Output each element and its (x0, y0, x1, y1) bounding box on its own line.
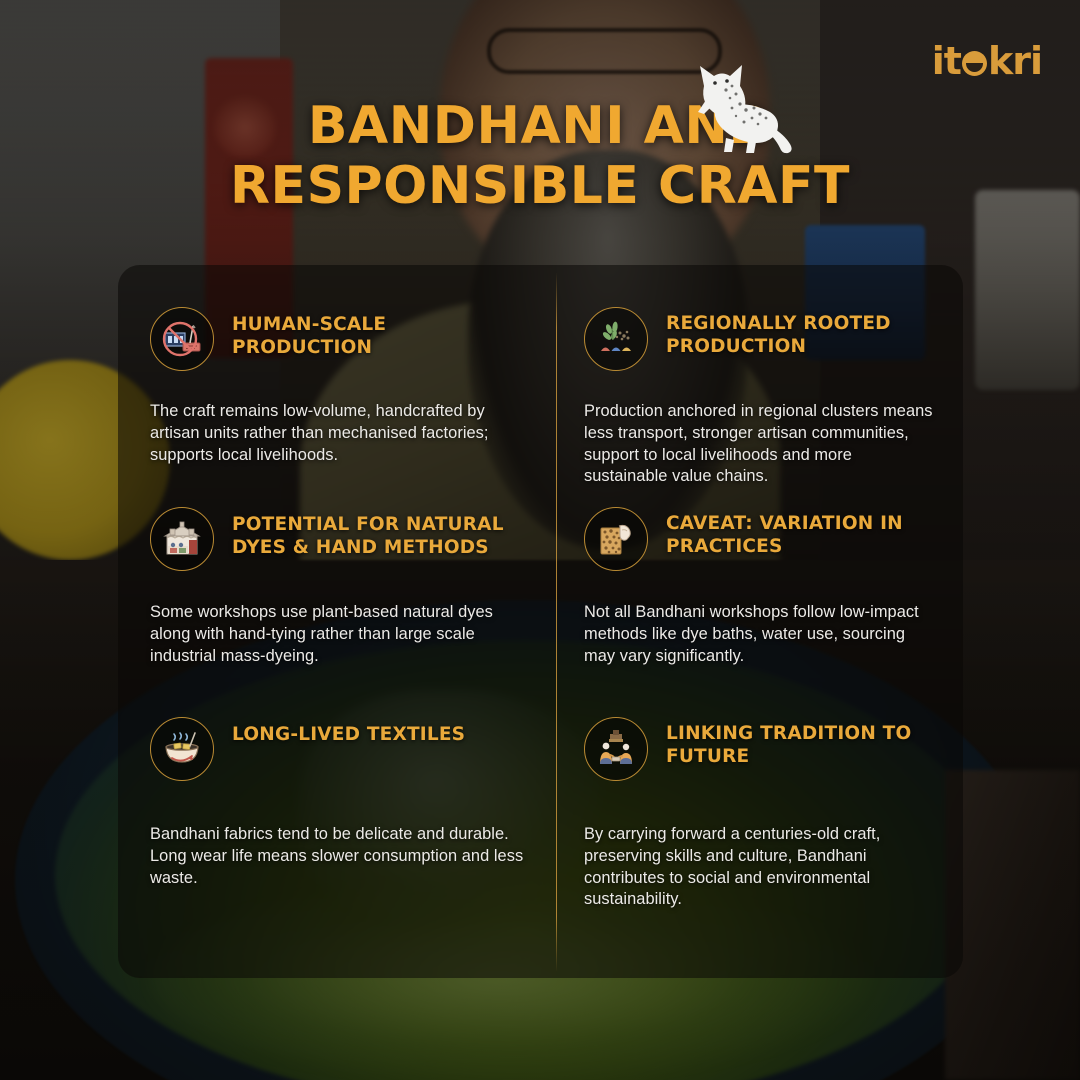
itokri-logo[interactable]: itkri (932, 42, 1042, 80)
feature-card-regionally-rooted-production[interactable]: REGIONALLY ROOTED PRODUCTION Production … (556, 265, 963, 465)
card-body: By carrying forward a centuries-old craf… (584, 824, 935, 911)
card-body: Not all Bandhani workshops follow low-im… (584, 602, 935, 667)
card-header: HUMAN-SCALE PRODUCTION (150, 305, 528, 371)
card-header: LONG-LIVED TEXTILES (150, 715, 528, 781)
card-header: POTENTIAL FOR NATURAL DYES & HAND METHOD… (150, 505, 528, 571)
card-title: REGIONALLY ROOTED PRODUCTION (666, 305, 935, 359)
card-title: LONG-LIVED TEXTILES (232, 715, 465, 746)
two-artisans-icon (584, 717, 648, 781)
no-factory-icon (150, 307, 214, 371)
steaming-dye-pot-icon (150, 717, 214, 781)
workshop-building-icon (150, 507, 214, 571)
feature-card-caveat-variation-in-practices[interactable]: CAVEAT: VARIATION IN PRACTICES Not all B… (556, 465, 963, 675)
features-grid: HUMAN-SCALE PRODUCTION The craft remains… (118, 265, 963, 978)
logo-basket-icon (962, 51, 987, 76)
hand-holding-fabric-swatch-icon (584, 507, 648, 571)
infographic-poster: itkri BANDHANI AND RESPONSIBLE CRAFT (0, 0, 1080, 1080)
page-title: BANDHANI AND RESPONSIBLE CRAFT (0, 96, 1080, 217)
title-line-1: BANDHANI AND (0, 96, 1080, 156)
title-line-2: RESPONSIBLE CRAFT (0, 156, 1080, 216)
feature-card-human-scale-production[interactable]: HUMAN-SCALE PRODUCTION The craft remains… (118, 265, 556, 465)
feature-card-long-lived-textiles[interactable]: LONG-LIVED TEXTILES Bandhani fabrics ten… (118, 675, 556, 978)
card-body: Some workshops use plant-based natural d… (150, 602, 528, 667)
card-body: The craft remains low-volume, handcrafte… (150, 401, 528, 466)
card-title: HUMAN-SCALE PRODUCTION (232, 305, 528, 360)
logo-text-right: kri (988, 42, 1042, 80)
card-title: CAVEAT: VARIATION IN PRACTICES (666, 505, 935, 559)
card-header: LINKING TRADITION TO FUTURE (584, 715, 935, 781)
logo-text-left: it (932, 42, 961, 80)
card-title: POTENTIAL FOR NATURAL DYES & HAND METHOD… (232, 505, 528, 560)
card-title: LINKING TRADITION TO FUTURE (666, 715, 935, 769)
card-body: Bandhani fabrics tend to be delicate and… (150, 824, 528, 889)
seedling-dye-mounds-icon (584, 307, 648, 371)
feature-card-linking-tradition-to-future[interactable]: LINKING TRADITION TO FUTURE By carrying … (556, 675, 963, 978)
card-header: CAVEAT: VARIATION IN PRACTICES (584, 505, 935, 571)
card-header: REGIONALLY ROOTED PRODUCTION (584, 305, 935, 371)
feature-card-natural-dyes-hand-methods[interactable]: POTENTIAL FOR NATURAL DYES & HAND METHOD… (118, 465, 556, 675)
